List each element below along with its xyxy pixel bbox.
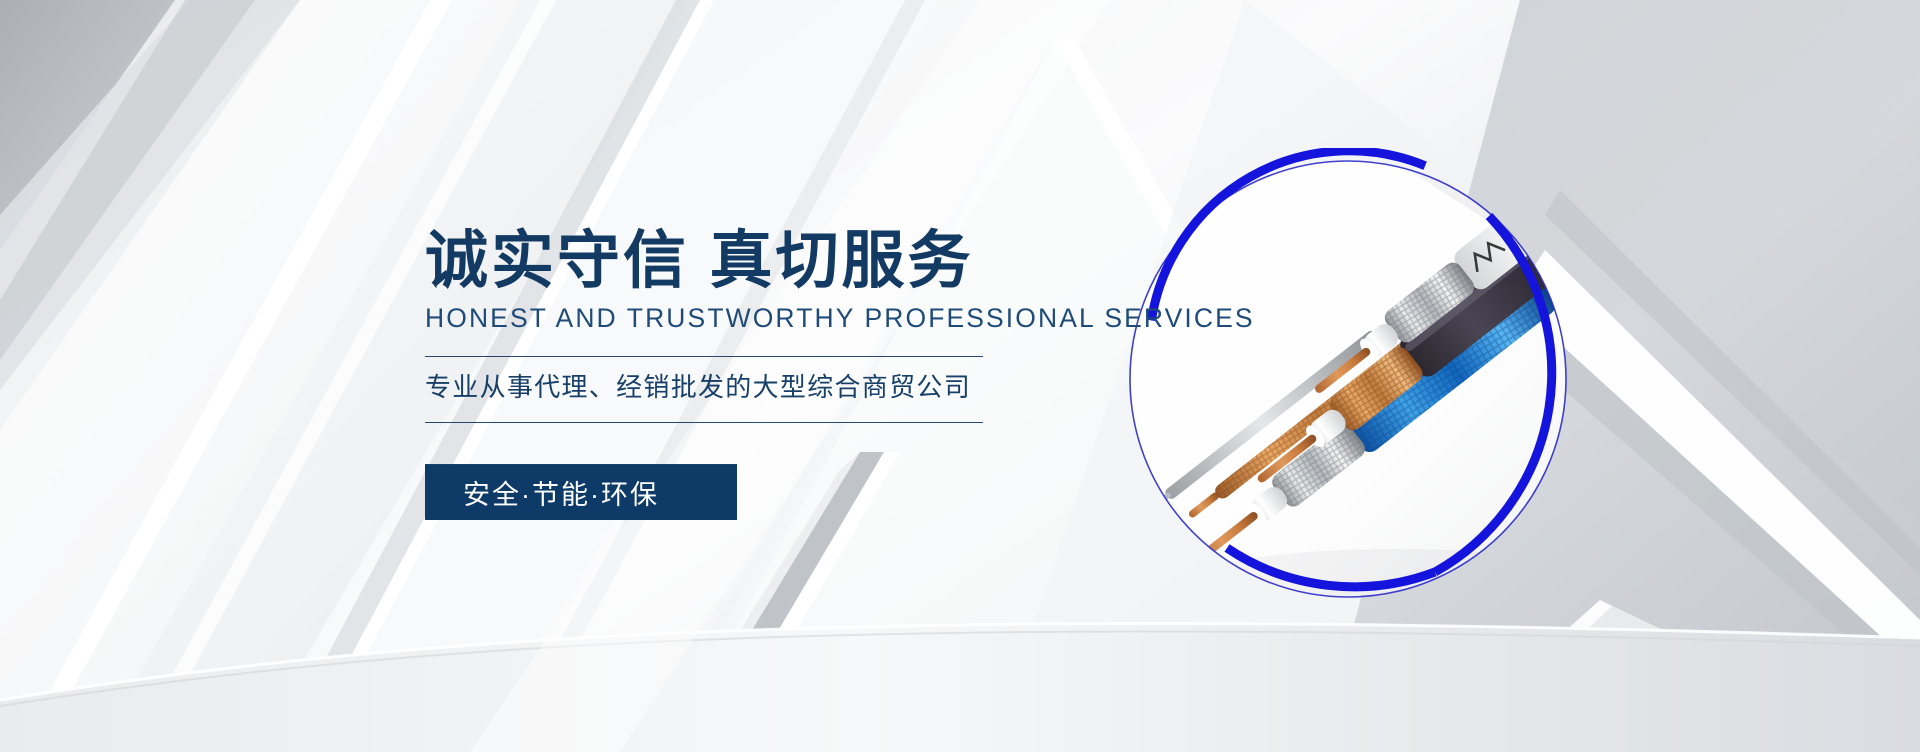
feature-ribbon-badge: 安全·节能·环保 [425,464,737,520]
divider-bottom [425,422,983,423]
ring-arc-bottom [1227,548,1435,587]
divider-top [425,356,983,357]
medallion-ring-decoration [1117,148,1579,610]
promotional-banner: 诚实守信 真切服务 HONEST AND TRUSTWORTHY PROFESS… [0,0,1920,752]
banner-text-block: 诚实守信 真切服务 HONEST AND TRUSTWORTHY PROFESS… [425,228,1105,520]
banner-tagline-chinese: 专业从事代理、经销批发的大型综合商贸公司 [425,371,1105,404]
ring-arc-right [1435,216,1552,572]
product-medallion [1117,148,1579,610]
ribbon-label: 安全·节能·环保 [425,473,659,512]
ring-arc-top-left [1136,148,1438,320]
banner-subtitle-english: HONEST AND TRUSTWORTHY PROFESSIONAL SERV… [425,303,1105,335]
banner-headline: 诚实守信 真切服务 [425,228,1105,295]
